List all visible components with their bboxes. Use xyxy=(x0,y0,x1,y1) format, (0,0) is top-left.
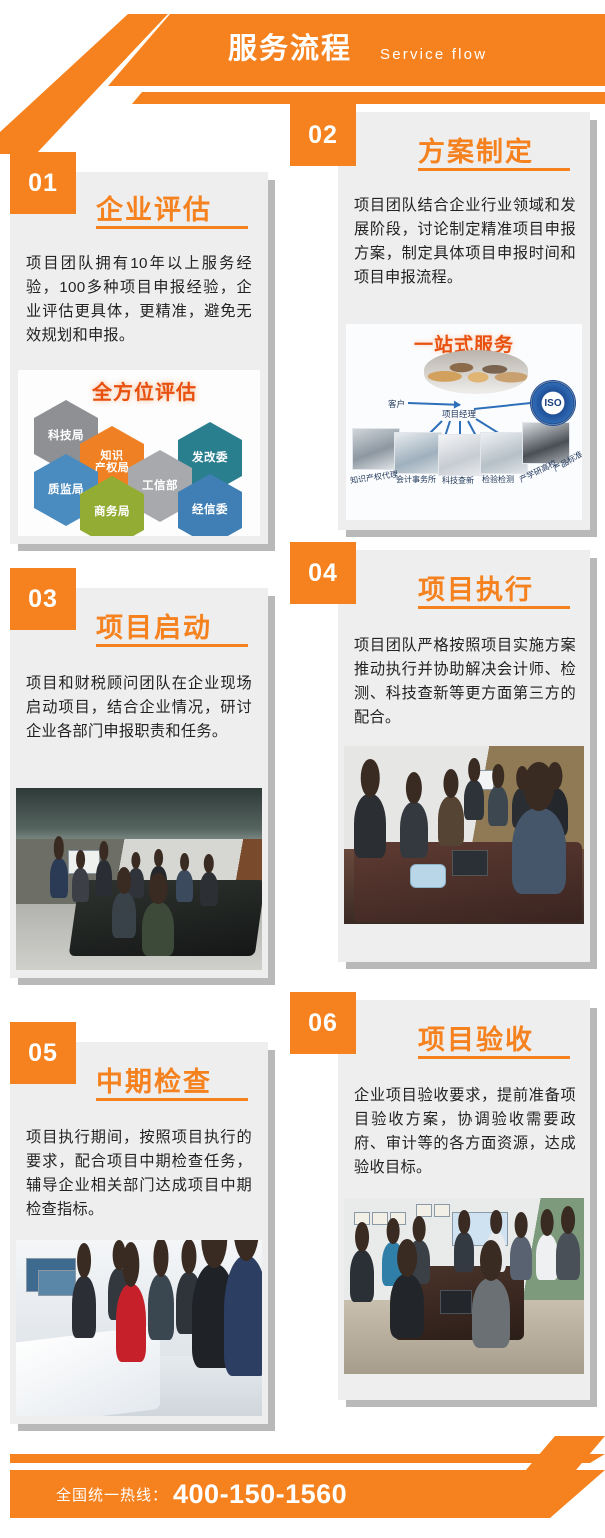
card-shadow-right xyxy=(590,558,597,962)
step-badge-03: 03 xyxy=(10,568,76,630)
step-badge-02: 02 xyxy=(290,104,356,166)
card-body-01: 项目团队拥有10年以上服务经验，100多种项目申报经验，企业评估更具体，更精准，… xyxy=(26,252,252,348)
card-title-05: 中期检查 xyxy=(96,1060,212,1099)
one-stop-node-customer: 客户 xyxy=(388,398,405,410)
photo-display-screen xyxy=(38,1270,76,1296)
card-shadow-right xyxy=(590,1008,597,1400)
photo-person xyxy=(390,1274,424,1338)
hotline-block: 全国统一热线： 400-150-1560 xyxy=(56,1470,347,1518)
step-badge-04: 04 xyxy=(290,542,356,604)
footer-accent-stripe xyxy=(10,1454,605,1463)
photo-laptop xyxy=(452,850,488,876)
card-body-03: 项目和财税顾问团队在企业现场启动项目，结合企业情况，研讨企业各部门申报职责和任务… xyxy=(26,672,252,744)
one-stop-diagram-02: 一站式服务 客户 项目经理 ISO 知识产权代理 会计事务所 科技查新 检验检测… xyxy=(346,324,582,520)
card-title-03: 项目启动 xyxy=(96,606,212,645)
infographic-page: 服务流程 Service flow 企业评估 项目团队拥有10年以上服务经验，1… xyxy=(0,0,605,1538)
card-title-rule-05 xyxy=(96,1098,248,1101)
step-badge-05: 05 xyxy=(10,1022,76,1084)
photo-person xyxy=(72,868,89,902)
card-body-06: 企业项目验收要求，提前准备项目验收方案，协调验收需要政府、审计等的各方面资源，达… xyxy=(354,1084,576,1180)
hotline-label: 全国统一热线： xyxy=(56,1484,168,1505)
card-title-04: 项目执行 xyxy=(418,568,534,607)
photo-certificate-frame xyxy=(372,1212,388,1225)
photo-person xyxy=(512,808,566,894)
card-title-06: 项目验收 xyxy=(418,1018,534,1057)
photo-person xyxy=(488,786,508,826)
card-body-05: 项目执行期间，按照项目执行的要求，配合项目中期检查任务，辅导企业相关部门达成项目… xyxy=(26,1126,252,1222)
page-footer: 全国统一热线： 400-150-1560 xyxy=(0,1420,605,1538)
photo-person-red-coat xyxy=(116,1284,146,1362)
one-stop-arrow-1 xyxy=(408,402,460,406)
photo-person xyxy=(112,892,136,938)
photo-person xyxy=(510,1236,532,1280)
card-shadow-right xyxy=(268,596,275,978)
photo-person xyxy=(354,794,386,858)
page-title: 服务流程 xyxy=(228,26,352,72)
photo-bag xyxy=(410,864,446,888)
photo-ceiling xyxy=(16,788,262,846)
step-card-06: 项目验收 企业项目验收要求，提前准备项目验收方案，协调验收需要政府、审计等的各方… xyxy=(338,1000,590,1400)
card-title-rule-01 xyxy=(96,226,248,229)
one-stop-thumb-1 xyxy=(352,428,400,470)
card-shadow-bottom xyxy=(346,530,597,537)
photo-certificate-frame xyxy=(416,1204,432,1217)
photo-acceptance-meeting xyxy=(344,1198,584,1374)
one-stop-label-4: 检验检测 xyxy=(482,474,514,485)
photo-person xyxy=(50,858,68,898)
page-subtitle: Service flow xyxy=(380,36,487,74)
one-stop-thumb-2 xyxy=(394,432,442,474)
photo-person xyxy=(454,1232,474,1272)
card-shadow-bottom xyxy=(346,962,597,969)
photo-person xyxy=(438,796,464,846)
card-shadow-right xyxy=(268,1050,275,1424)
step-card-03: 项目启动 项目和财税顾问团队在企业现场启动项目，结合企业情况，研讨企业各部门申报… xyxy=(10,588,268,978)
one-stop-label-1: 知识产权代理 xyxy=(349,469,398,487)
photo-laptop xyxy=(440,1290,472,1314)
card-shadow-bottom xyxy=(346,1400,597,1407)
photo-person xyxy=(176,870,193,902)
photo-person xyxy=(200,872,218,906)
card-shadow-bottom xyxy=(18,978,275,985)
iso-seal-icon: ISO xyxy=(530,380,576,426)
photo-meeting-room xyxy=(16,788,262,970)
step-card-01: 企业评估 项目团队拥有10年以上服务经验，100多种项目申报经验，企业评估更具体… xyxy=(10,172,268,544)
card-title-01: 企业评估 xyxy=(96,188,212,227)
photo-person xyxy=(96,860,112,896)
photo-certificate-frame xyxy=(434,1204,450,1217)
card-body-02: 项目团队结合企业行业领域和发展阶段，讨论制定精准项目申报方案，制定具体项目申报时… xyxy=(354,194,576,290)
card-title-rule-06 xyxy=(418,1056,570,1059)
photo-work-session xyxy=(344,746,584,924)
step-card-02: 方案制定 项目团队结合企业行业领域和发展阶段，讨论制定精准项目申报方案，制定具体… xyxy=(338,112,590,530)
step-card-05: 中期检查 项目执行期间，按照项目执行的要求，配合项目中期检查任务，辅导企业相关部… xyxy=(10,1042,268,1424)
photo-person xyxy=(148,1274,174,1340)
photo-person xyxy=(224,1256,262,1376)
photo-person xyxy=(400,802,428,858)
card-title-rule-03 xyxy=(96,644,248,647)
one-stop-label-3: 科技查新 xyxy=(442,475,474,486)
one-stop-label-2: 会计事务所 xyxy=(396,474,436,485)
photo-person xyxy=(464,780,484,820)
one-stop-thumb-4 xyxy=(480,432,528,474)
step-card-04: 项目执行 项目团队严格按照项目实施方案推动执行并协助解决会计师、检测、科技查新等… xyxy=(338,550,590,962)
card-shadow-bottom xyxy=(18,544,275,551)
hex-diagram-01: 全方位评估 科技局 知识 产权局 发改委 质监局 工信部 商务局 经信委 xyxy=(18,370,260,536)
card-title-02: 方案制定 xyxy=(418,130,534,169)
photo-person xyxy=(142,902,174,956)
step-badge-01: 01 xyxy=(10,152,76,214)
photo-person xyxy=(556,1232,580,1280)
photo-person xyxy=(472,1278,510,1348)
one-stop-thumb-3 xyxy=(438,434,486,476)
card-title-rule-04 xyxy=(418,606,570,609)
one-stop-team-photo xyxy=(424,350,528,394)
photo-person xyxy=(350,1250,374,1302)
photo-site-visit xyxy=(16,1240,262,1416)
step-badge-06: 06 xyxy=(290,992,356,1054)
card-title-rule-02 xyxy=(418,168,570,171)
photo-person xyxy=(536,1234,558,1280)
hotline-number[interactable]: 400-150-1560 xyxy=(173,1479,347,1510)
card-body-04: 项目团队严格按照项目实施方案推动执行并协助解决会计师、检测、科技查新等更方面第三… xyxy=(354,634,576,730)
one-stop-node-manager: 项目经理 xyxy=(442,408,476,420)
photo-person xyxy=(72,1276,96,1338)
hex-diagram-title: 全方位评估 xyxy=(92,376,197,405)
card-shadow-right xyxy=(268,180,275,544)
card-shadow-right xyxy=(590,120,597,530)
